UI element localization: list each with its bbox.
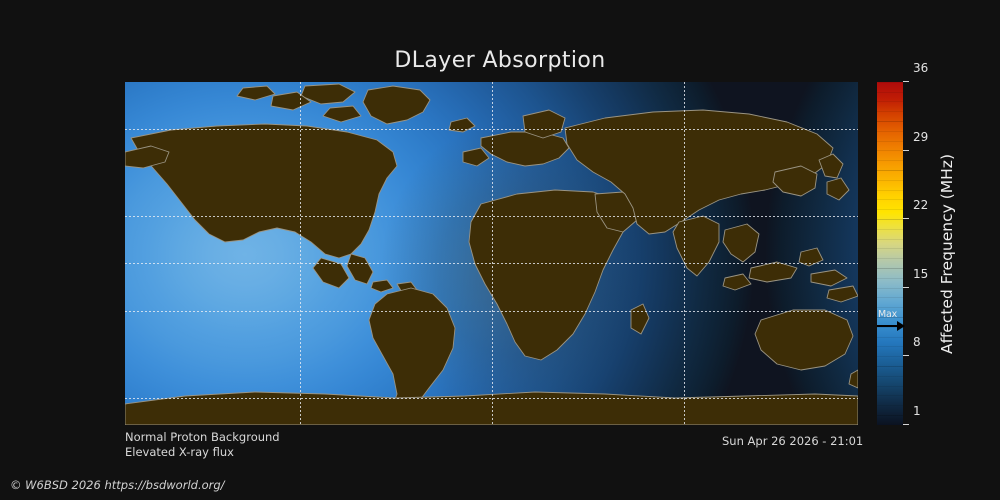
colorbar-tick-label-8: 8 <box>913 335 921 349</box>
colorbar-tick-mark <box>903 287 909 288</box>
colorbar-axis-label-text: Affected Frequency (MHz) <box>938 154 956 354</box>
colorbar-tick-mark <box>903 424 909 425</box>
absorption-map[interactable] <box>125 82 858 425</box>
footer-credit: © W6BSD 2026 https://bsdworld.org/ <box>10 478 225 492</box>
longitude-line-0 <box>684 82 685 425</box>
graticule <box>125 82 858 425</box>
colorbar-tick-mark <box>903 150 909 151</box>
colorbar-tick-label-1: 1 <box>913 404 921 418</box>
colorbar-tick-label-36: 36 <box>913 61 928 75</box>
status-note-xray-flux: Elevated X-ray flux <box>125 445 234 459</box>
longitude-line-60w <box>492 82 493 425</box>
timestamp-label: Sun Apr 26 2026 - 21:01 <box>722 434 863 448</box>
colorbar-tick-mark <box>903 355 909 356</box>
colorbar-tick-mark <box>903 218 909 219</box>
colorbar-tick-mark <box>903 81 909 82</box>
colorbar-tick-label-22: 22 <box>913 198 928 212</box>
colorbar-discrete-bands <box>877 82 903 425</box>
colorbar-axis-label: Affected Frequency (MHz) <box>935 82 959 425</box>
status-note-proton-background: Normal Proton Background <box>125 430 280 444</box>
colorbar[interactable]: 1 8 15 22 29 36 Max <box>877 82 903 425</box>
longitude-line-120w <box>300 82 301 425</box>
page-title: DLayer Absorption <box>0 48 1000 73</box>
colorbar-tick-label-15: 15 <box>913 267 928 281</box>
colorbar-tick-label-29: 29 <box>913 130 928 144</box>
